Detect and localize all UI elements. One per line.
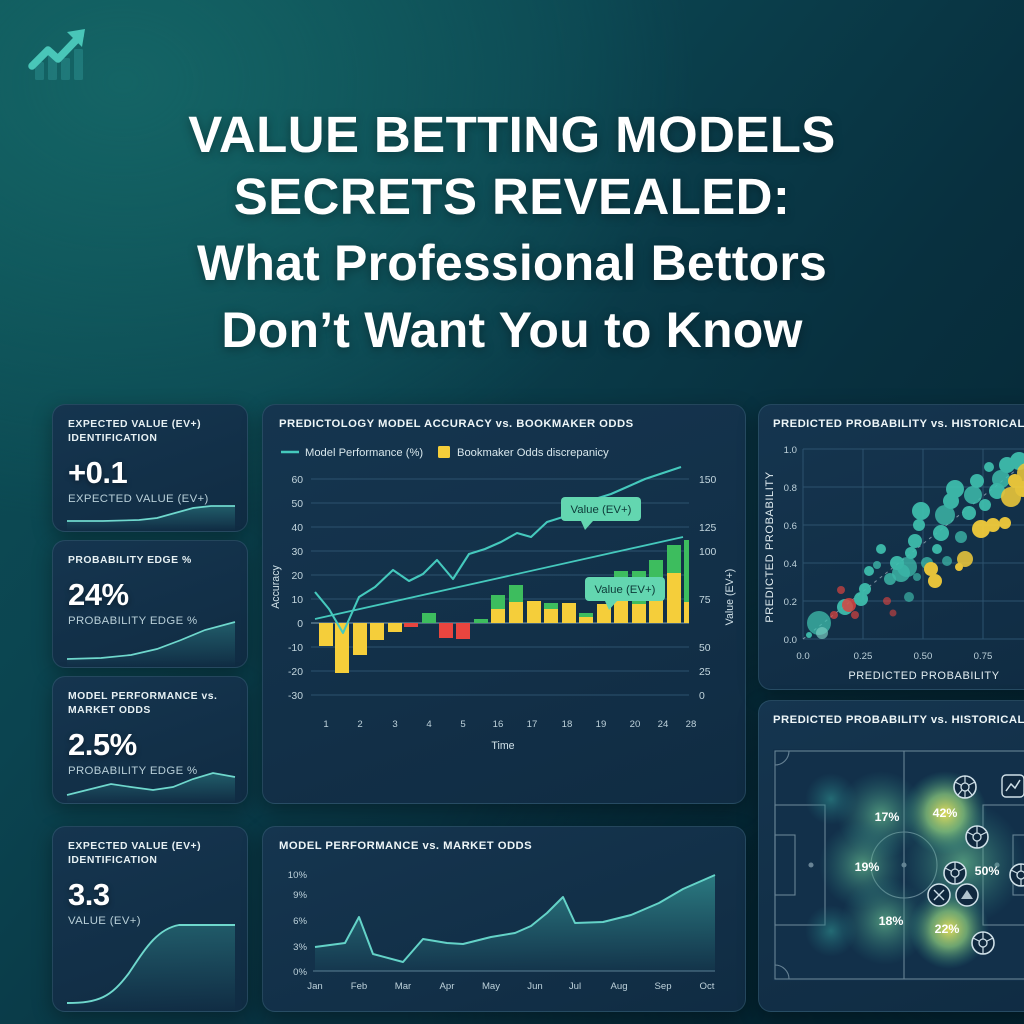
svg-text:16: 16 <box>493 719 504 730</box>
svg-text:0: 0 <box>699 691 705 702</box>
svg-text:30: 30 <box>291 547 303 558</box>
svg-text:50: 50 <box>699 643 711 654</box>
svg-text:25: 25 <box>699 667 711 678</box>
svg-text:60: 60 <box>291 475 303 486</box>
growth-arrow-icon <box>22 22 94 84</box>
chart-title: PREDICTED PROBABILITY vs. HISTORICAL OUT… <box>773 714 1024 726</box>
y-axis-label: PREDICTED PROBABILITY <box>764 471 776 622</box>
chart-title: MODEL PERFORMANCE vs. MARKET ODDS <box>279 840 729 852</box>
svg-text:1: 1 <box>323 719 328 730</box>
svg-text:Apr: Apr <box>440 981 456 992</box>
svg-text:0.2: 0.2 <box>784 597 797 608</box>
panel-main-combo-chart[interactable]: PREDICTOLOGY MODEL ACCURACY vs. BOOKMAKE… <box>262 404 746 804</box>
y-axis-ticks: 10% 9% 6% 3% 0% <box>288 870 308 978</box>
sparkline-chart <box>53 911 248 1011</box>
annotation-label: Value (EV+) <box>595 584 656 596</box>
svg-text:0.0: 0.0 <box>784 635 797 646</box>
svg-text:75: 75 <box>699 595 711 606</box>
zone-label: 19% <box>855 860 880 874</box>
svg-text:0.4: 0.4 <box>784 559 798 570</box>
svg-text:50: 50 <box>291 499 303 510</box>
svg-text:0%: 0% <box>293 967 307 978</box>
sparkline-chart <box>53 609 248 667</box>
svg-text:18: 18 <box>562 719 573 730</box>
panel-scatter-chart[interactable]: PREDICTED PROBABILITY vs. HISTORICAL OUT… <box>758 404 1024 690</box>
svg-text:0.8: 0.8 <box>784 483 797 494</box>
page-title: VALUE BETTING MODELS SECRETS REVEALED: W… <box>0 104 1024 361</box>
x-axis-ticks: 1 2 3 4 5 16 17 18 19 20 24 28 <box>323 719 696 730</box>
svg-text:40: 40 <box>291 523 303 534</box>
svg-text:0.25: 0.25 <box>854 651 873 662</box>
svg-text:19: 19 <box>596 719 607 730</box>
svg-text:100: 100 <box>699 547 717 558</box>
chart-title: PREDICTOLOGY MODEL ACCURACY vs. BOOKMAKE… <box>279 418 729 430</box>
chart-icon <box>1002 775 1024 797</box>
svg-text:4: 4 <box>426 719 432 730</box>
legend-label-0: Model Performance (%) <box>305 447 423 459</box>
svg-text:May: May <box>482 981 500 992</box>
kpi-card-value-ev[interactable]: EXPECTED VALUE (EV+) IDENTIFICATION 3.3 … <box>52 826 248 1012</box>
y2-axis-label: Value (EV+) <box>724 569 736 626</box>
zone-label: 50% <box>975 864 1000 878</box>
annotation-label: Value (EV+) <box>571 504 632 516</box>
headline-line-3: What Professional Bettors <box>96 232 928 295</box>
sparkline-chart <box>53 473 248 531</box>
x-axis-ticks: 0.0 0.25 0.50 0.75 <box>796 651 992 662</box>
svg-text:150: 150 <box>699 475 717 486</box>
kpi-title: EXPECTED VALUE (EV+) IDENTIFICATION <box>68 840 232 868</box>
svg-text:3%: 3% <box>293 942 307 953</box>
soccer-ball-icon <box>954 776 976 798</box>
svg-text:5: 5 <box>460 719 465 730</box>
combo-chart-svg: Model Performance (%) Bookmaker Odds dis… <box>263 437 746 797</box>
legend-square-marker <box>438 446 450 458</box>
svg-text:Jan: Jan <box>307 981 322 992</box>
svg-text:3: 3 <box>392 719 397 730</box>
whistle-icon <box>928 884 950 906</box>
svg-text:10%: 10% <box>288 870 308 881</box>
svg-text:Jun: Jun <box>527 981 542 992</box>
soccer-ball-icon <box>944 862 966 884</box>
svg-text:Mar: Mar <box>395 981 412 992</box>
soccer-ball-icon <box>1010 864 1024 886</box>
x-axis-label: Time <box>491 740 514 752</box>
svg-text:2: 2 <box>357 719 362 730</box>
svg-text:Jul: Jul <box>569 981 581 992</box>
annotation-value-ev-top: Value (EV+) <box>561 497 641 530</box>
svg-text:0.0: 0.0 <box>796 651 809 662</box>
svg-text:10: 10 <box>291 595 303 606</box>
svg-text:20: 20 <box>630 719 641 730</box>
kpi-value: 24% <box>68 577 232 613</box>
scatter-chart-svg: 1.0 0.8 0.6 0.4 0.2 0.0 0.0 0.25 0.50 0.… <box>759 437 1024 687</box>
svg-text:-20: -20 <box>288 667 303 678</box>
infographic-root: VALUE BETTING MODELS SECRETS REVEALED: W… <box>0 0 1024 1024</box>
svg-text:0.50: 0.50 <box>914 651 933 662</box>
svg-text:0.6: 0.6 <box>784 521 797 532</box>
x-axis-ticks: Jan Feb Mar Apr May Jun Jul Aug Sep Oct <box>307 981 715 992</box>
kpi-card-model-performance[interactable]: MODEL PERFORMANCE vs. MARKET ODDS 2.5% P… <box>52 676 248 804</box>
zone-label: 18% <box>879 914 904 928</box>
kpi-title: PROBABILITY EDGE % <box>68 554 232 568</box>
x-axis-label: PREDICTED PROBABILITY <box>848 670 999 682</box>
svg-text:0.75: 0.75 <box>974 651 993 662</box>
legend-label-1: Bookmaker Odds discrepanicy <box>457 447 609 459</box>
svg-text:17: 17 <box>527 719 538 730</box>
headline-line-4: Don’t Want You to Know <box>96 299 928 362</box>
y-axis-label: Accuracy <box>270 565 282 609</box>
kpi-card-expected-value[interactable]: EXPECTED VALUE (EV+) IDENTIFICATION +0.1… <box>52 404 248 532</box>
zone-label: 42% <box>933 806 958 820</box>
panel-area-chart[interactable]: MODEL PERFORMANCE vs. MARKET ODDS 10% 9%… <box>262 826 746 1012</box>
svg-text:9%: 9% <box>293 890 307 901</box>
headline-line-2: SECRETS REVEALED: <box>96 166 928 228</box>
svg-text:Oct: Oct <box>700 981 715 992</box>
area-fill <box>315 875 715 971</box>
soccer-ball-icon <box>972 932 994 954</box>
kpi-card-probability-edge[interactable]: PROBABILITY EDGE % 24% PROBABILITY EDGE … <box>52 540 248 668</box>
y-axis-ticks-left: 60 50 40 30 20 10 0 -10 -20 -30 <box>288 475 303 702</box>
svg-text:28: 28 <box>686 719 697 730</box>
svg-text:1.0: 1.0 <box>784 445 797 456</box>
kpi-title: EXPECTED VALUE (EV+) IDENTIFICATION <box>68 418 232 446</box>
zone-label: 22% <box>935 922 960 936</box>
svg-text:Sep: Sep <box>654 981 671 992</box>
zone-label: 17% <box>875 810 900 824</box>
svg-text:Feb: Feb <box>351 981 368 992</box>
bars-group <box>319 540 698 673</box>
kpi-value: 3.3 <box>68 877 232 913</box>
y-axis-ticks-right: 150 125 100 75 50 25 0 <box>699 475 717 702</box>
svg-text:-10: -10 <box>288 643 303 654</box>
net-icon <box>956 884 978 906</box>
heatmap-svg: 17% 42% 19% 50% 18% 22% <box>759 735 1024 997</box>
svg-text:125: 125 <box>699 523 717 534</box>
scatter-points <box>806 442 1024 639</box>
sparkline-chart <box>53 745 248 803</box>
kpi-title: MODEL PERFORMANCE vs. MARKET ODDS <box>68 690 232 718</box>
y-axis-ticks: 1.0 0.8 0.6 0.4 0.2 0.0 <box>784 445 798 646</box>
chart-title: PREDICTED PROBABILITY vs. HISTORICAL OUT… <box>773 418 1024 430</box>
svg-text:6%: 6% <box>293 916 307 927</box>
svg-text:Aug: Aug <box>610 981 627 992</box>
soccer-ball-icon <box>966 826 988 848</box>
svg-text:24: 24 <box>658 719 669 730</box>
area-chart-svg: 10% 9% 6% 3% 0% Jan Feb Mar Apr May Jun … <box>263 861 746 1012</box>
svg-text:0: 0 <box>297 619 303 630</box>
svg-text:20: 20 <box>291 571 303 582</box>
svg-text:-30: -30 <box>288 691 303 702</box>
headline-line-1: VALUE BETTING MODELS <box>96 104 928 166</box>
panel-pitch-heatmap[interactable]: PREDICTED PROBABILITY vs. HISTORICAL OUT… <box>758 700 1024 1012</box>
